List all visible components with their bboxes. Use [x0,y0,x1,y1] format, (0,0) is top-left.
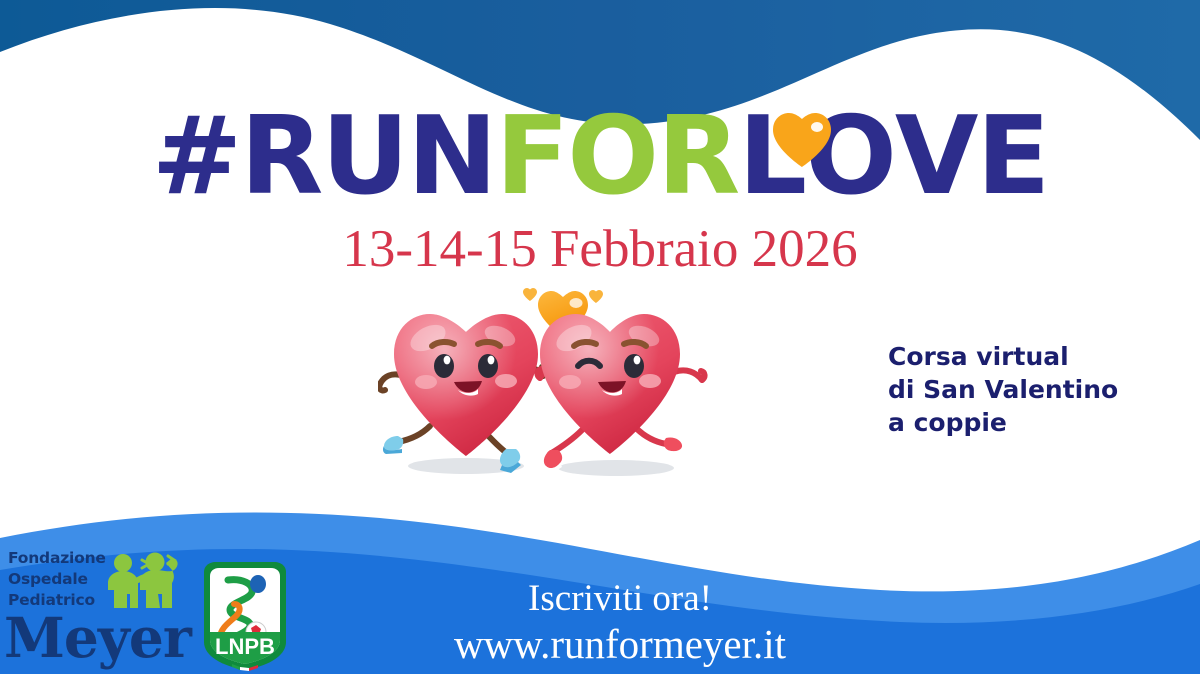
promo-banner: #RUNFORLO VE 13-14-15 Febbraio 2026 [0,0,1200,674]
event-logo-wordmark: #RUNFORLO VE [152,103,1049,211]
meyer-logo-name: Meyer [4,610,191,665]
tagline-line-1: Corsa virtual [888,340,1138,373]
tagline-line-2: di San Valentino [888,373,1138,406]
tagline-line-3: a coppie [888,406,1138,439]
right-heart-shoe-back [542,450,562,474]
right-heart-leg-front [636,428,666,444]
event-date: 13-14-15 Febbraio 2026 [0,223,1200,276]
logo-ve: VE [895,94,1048,219]
left-heart-eye-l-glint [444,356,451,365]
logo-for: FOR [496,94,739,219]
logo-hash: # [152,94,241,219]
figure-body-left [108,571,138,608]
lnpb-label: LNPB [215,634,275,659]
running-heart-right [537,314,704,474]
logo-l: L [738,94,805,219]
running-heart-left [379,314,545,473]
meyer-children-figures-icon [102,550,182,610]
left-heart-blush-l [415,375,437,389]
figure-head-left [114,554,132,572]
left-heart-eye-r [478,354,498,378]
logo-o: O [805,94,895,219]
lnpb-league-logo[interactable]: LNPB [196,560,294,672]
shadow-right [558,460,674,476]
logo-run: RUN [240,94,495,219]
right-heart-blush-r [639,374,661,388]
left-heart-hand-back [379,384,385,391]
left-heart-shoe-back [383,436,403,454]
small-heart-left-icon [523,288,537,301]
meyer-line-1: Fondazione [8,548,106,569]
logo-o-slot: O [805,103,895,211]
event-tagline: Corsa virtual di San Valentino a coppie [888,340,1138,439]
small-heart-right-icon [589,290,603,303]
event-logo: #RUNFORLO VE [0,103,1200,211]
right-heart-arm-front [674,370,702,380]
right-heart-eye-glint [634,356,641,365]
left-heart-eye-r-glint [488,356,495,365]
left-heart-eye-l [434,354,454,378]
right-heart-shoe-front [664,437,684,455]
cta-website-url[interactable]: www.runformeyer.it [330,622,910,668]
right-heart-eye-open [624,354,644,378]
cta-headline: Iscriviti ora! [330,578,910,619]
heart-mascots-illustration [378,284,748,489]
right-heart-blush-l [559,375,581,389]
meyer-line-2: Ospedale [8,569,106,590]
left-heart-blush-r [495,374,517,388]
meyer-foundation-logo[interactable]: Fondazione Ospedale Pediatrico Meyer [4,548,184,668]
meyer-logo-subtitle: Fondazione Ospedale Pediatrico [8,548,106,611]
orange-heart-shine [570,298,583,308]
lnpb-blue-dot [250,575,266,593]
call-to-action: Iscriviti ora! www.runformeyer.it [330,578,910,668]
